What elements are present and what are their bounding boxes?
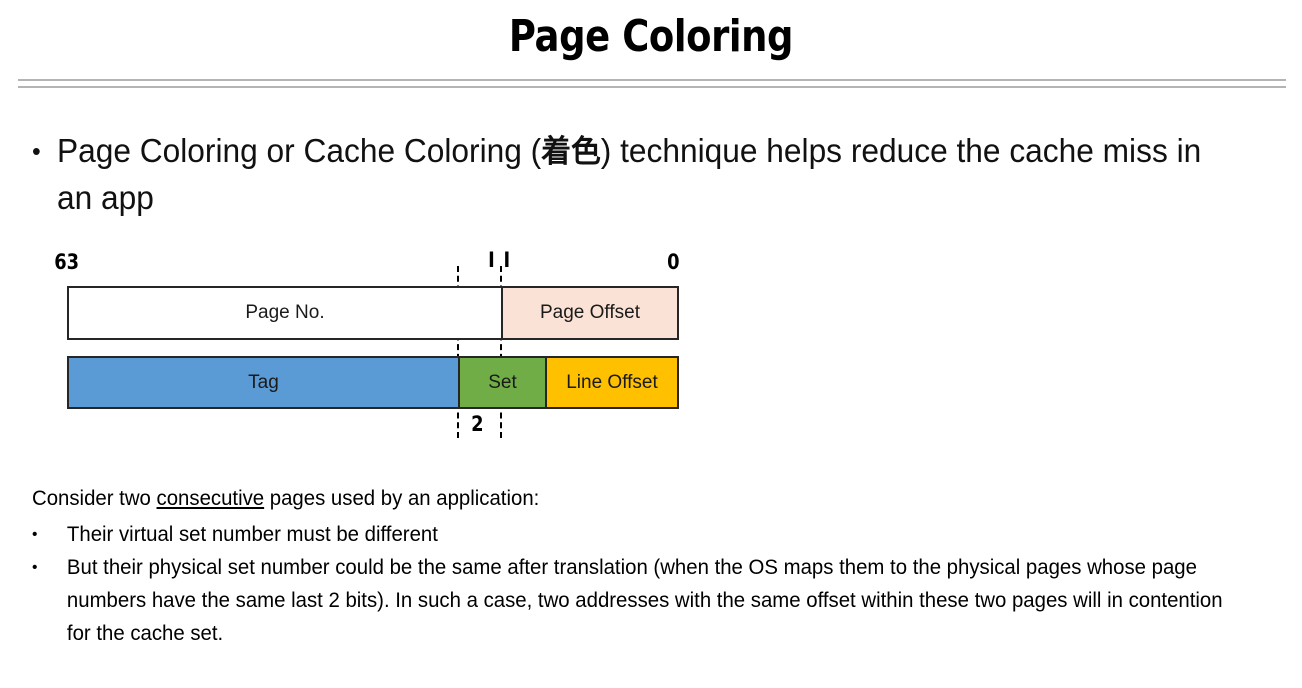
page-title: Page Coloring (104, 14, 1198, 60)
virtual-address-row: Page No. Page Offset (67, 286, 679, 340)
field-set: Set (460, 358, 547, 407)
lead-bullet-text: Page Coloring or Cache Coloring (着色) tec… (57, 128, 1213, 221)
note-bullet-marker-icon: • (32, 518, 67, 551)
field-page-no: Page No. (69, 288, 503, 338)
notes-lead-underlined: consecutive (157, 487, 265, 510)
title-divider (18, 79, 1286, 88)
bullet-marker-icon: • (32, 128, 57, 174)
lead-bullet-cjk-term: 着色 (541, 134, 601, 170)
lead-bullet-text-part1: Page Coloring or Cache Coloring ( (57, 132, 541, 169)
note-item-2: • But their physical set number could be… (32, 551, 1235, 650)
cache-address-row: Tag Set Line Offset (67, 356, 679, 409)
note-item-1-text: Their virtual set number must be differe… (67, 518, 1235, 551)
bit-label-high: 63 (54, 250, 79, 274)
bit-label-color-bits: 2 (471, 412, 483, 436)
notes-block: Consider two consecutive pages used by a… (32, 482, 1235, 650)
notes-lead-line: Consider two consecutive pages used by a… (32, 482, 1235, 515)
note-item-2-text: But their physical set number could be t… (67, 551, 1235, 650)
field-line-offset: Line Offset (547, 358, 677, 407)
field-tag: Tag (69, 358, 460, 407)
bit-label-low: 0 (667, 250, 679, 274)
lead-bullet: • Page Coloring or Cache Coloring (着色) t… (32, 128, 1213, 221)
note-item-1: • Their virtual set number must be diffe… (32, 518, 1235, 551)
note-bullet-marker-icon: • (32, 551, 67, 584)
notes-lead-before: Consider two (32, 487, 157, 510)
notes-lead-after: pages used by an application: (264, 487, 539, 510)
field-page-offset: Page Offset (503, 288, 677, 338)
